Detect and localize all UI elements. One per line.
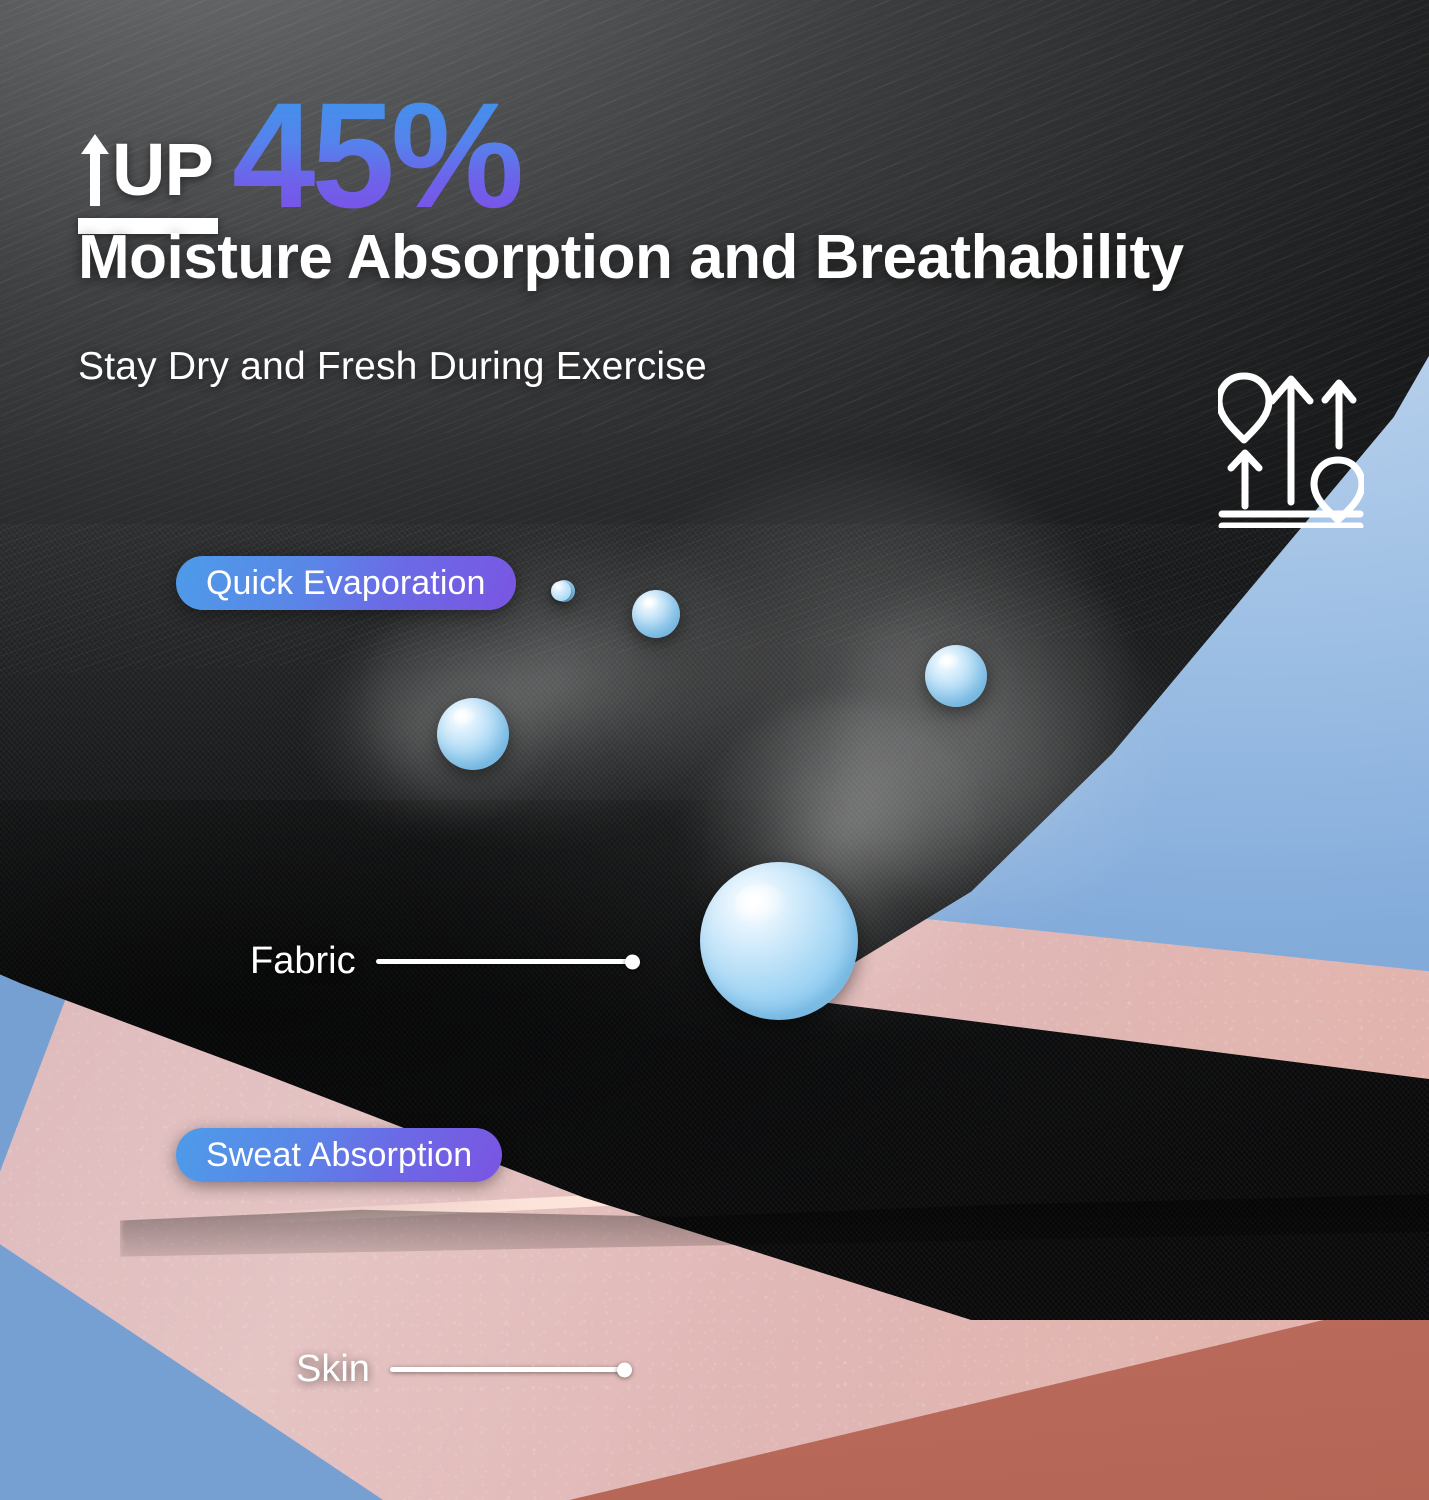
pill-label: Quick Evaporation <box>206 564 486 603</box>
pill-label: Sweat Absorption <box>206 1136 472 1175</box>
water-droplet-large <box>700 862 858 1020</box>
water-droplet-medium <box>437 698 509 770</box>
kicker-row: UP 45% <box>78 92 520 234</box>
callout-fabric: Fabric <box>250 940 636 983</box>
product-infographic: UP 45% Moisture Absorption and Breathabi… <box>0 0 1429 1500</box>
percent-value: 45% <box>232 92 520 224</box>
up-label: UP <box>112 136 213 204</box>
callout-skin: Skin <box>296 1348 628 1391</box>
moisture-wicking-icon <box>1218 368 1364 528</box>
water-droplet-small <box>632 590 680 638</box>
page-subtitle: Stay Dry and Fresh During Exercise <box>78 345 707 389</box>
leader-line <box>376 959 636 964</box>
callout-label: Fabric <box>250 940 356 983</box>
callout-label: Skin <box>296 1348 370 1391</box>
pill-quick-evaporation: Quick Evaporation <box>176 556 516 610</box>
leader-line <box>390 1367 628 1372</box>
up-line: UP <box>78 130 213 210</box>
up-block: UP <box>78 130 218 234</box>
water-droplet-medium <box>925 645 987 707</box>
up-arrow-icon <box>78 130 112 210</box>
page-title: Moisture Absorption and Breathability <box>78 222 1184 293</box>
pill-sweat-absorption: Sweat Absorption <box>176 1128 502 1182</box>
pill-accent-dot <box>551 581 571 601</box>
